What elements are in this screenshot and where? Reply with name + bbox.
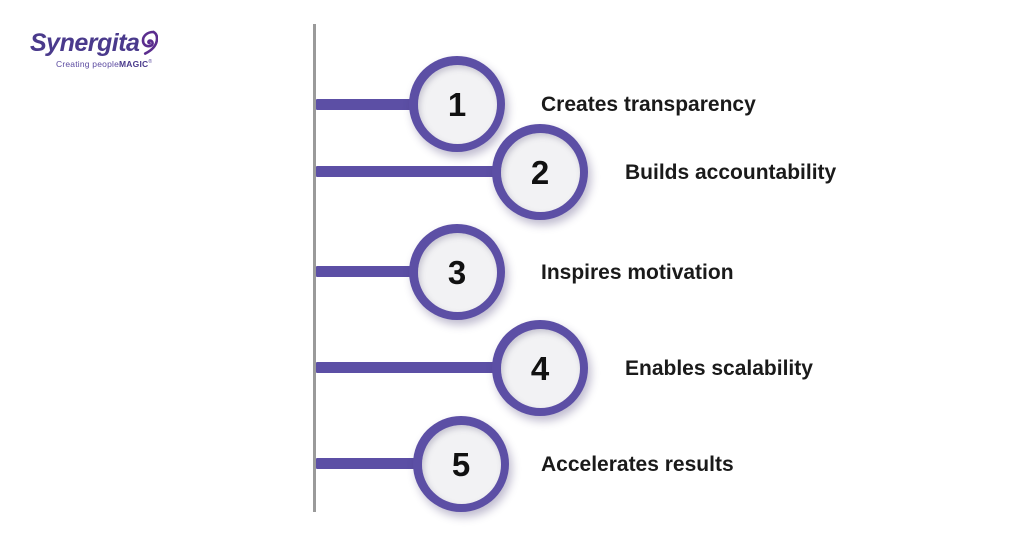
step-number-2: 2 (531, 156, 549, 189)
step-label-2: Builds accountability (625, 162, 836, 183)
connector-line-4 (316, 362, 508, 373)
step-number-1: 1 (448, 88, 466, 121)
step-node-4[interactable]: 4 (492, 320, 588, 416)
step-node-inner-5: 5 (422, 425, 501, 504)
step-number-5: 5 (452, 448, 470, 481)
step-node-3[interactable]: 3 (409, 224, 505, 320)
step-node-2[interactable]: 2 (492, 124, 588, 220)
step-node-5[interactable]: 5 (413, 416, 509, 512)
step-node-inner-1: 1 (418, 65, 497, 144)
connector-line-2 (316, 166, 508, 177)
step-number-3: 3 (448, 256, 466, 289)
step-label-1: Creates transparency (541, 94, 756, 115)
step-node-inner-2: 2 (501, 133, 580, 212)
step-node-inner-4: 4 (501, 329, 580, 408)
step-label-3: Inspires motivation (541, 262, 734, 283)
step-node-1[interactable]: 1 (409, 56, 505, 152)
step-node-inner-3: 3 (418, 233, 497, 312)
step-label-5: Accelerates results (541, 454, 734, 475)
benefits-diagram: 1 Creates transparency 2 Builds accounta… (0, 0, 1024, 536)
step-label-4: Enables scalability (625, 358, 813, 379)
step-number-4: 4 (531, 352, 549, 385)
